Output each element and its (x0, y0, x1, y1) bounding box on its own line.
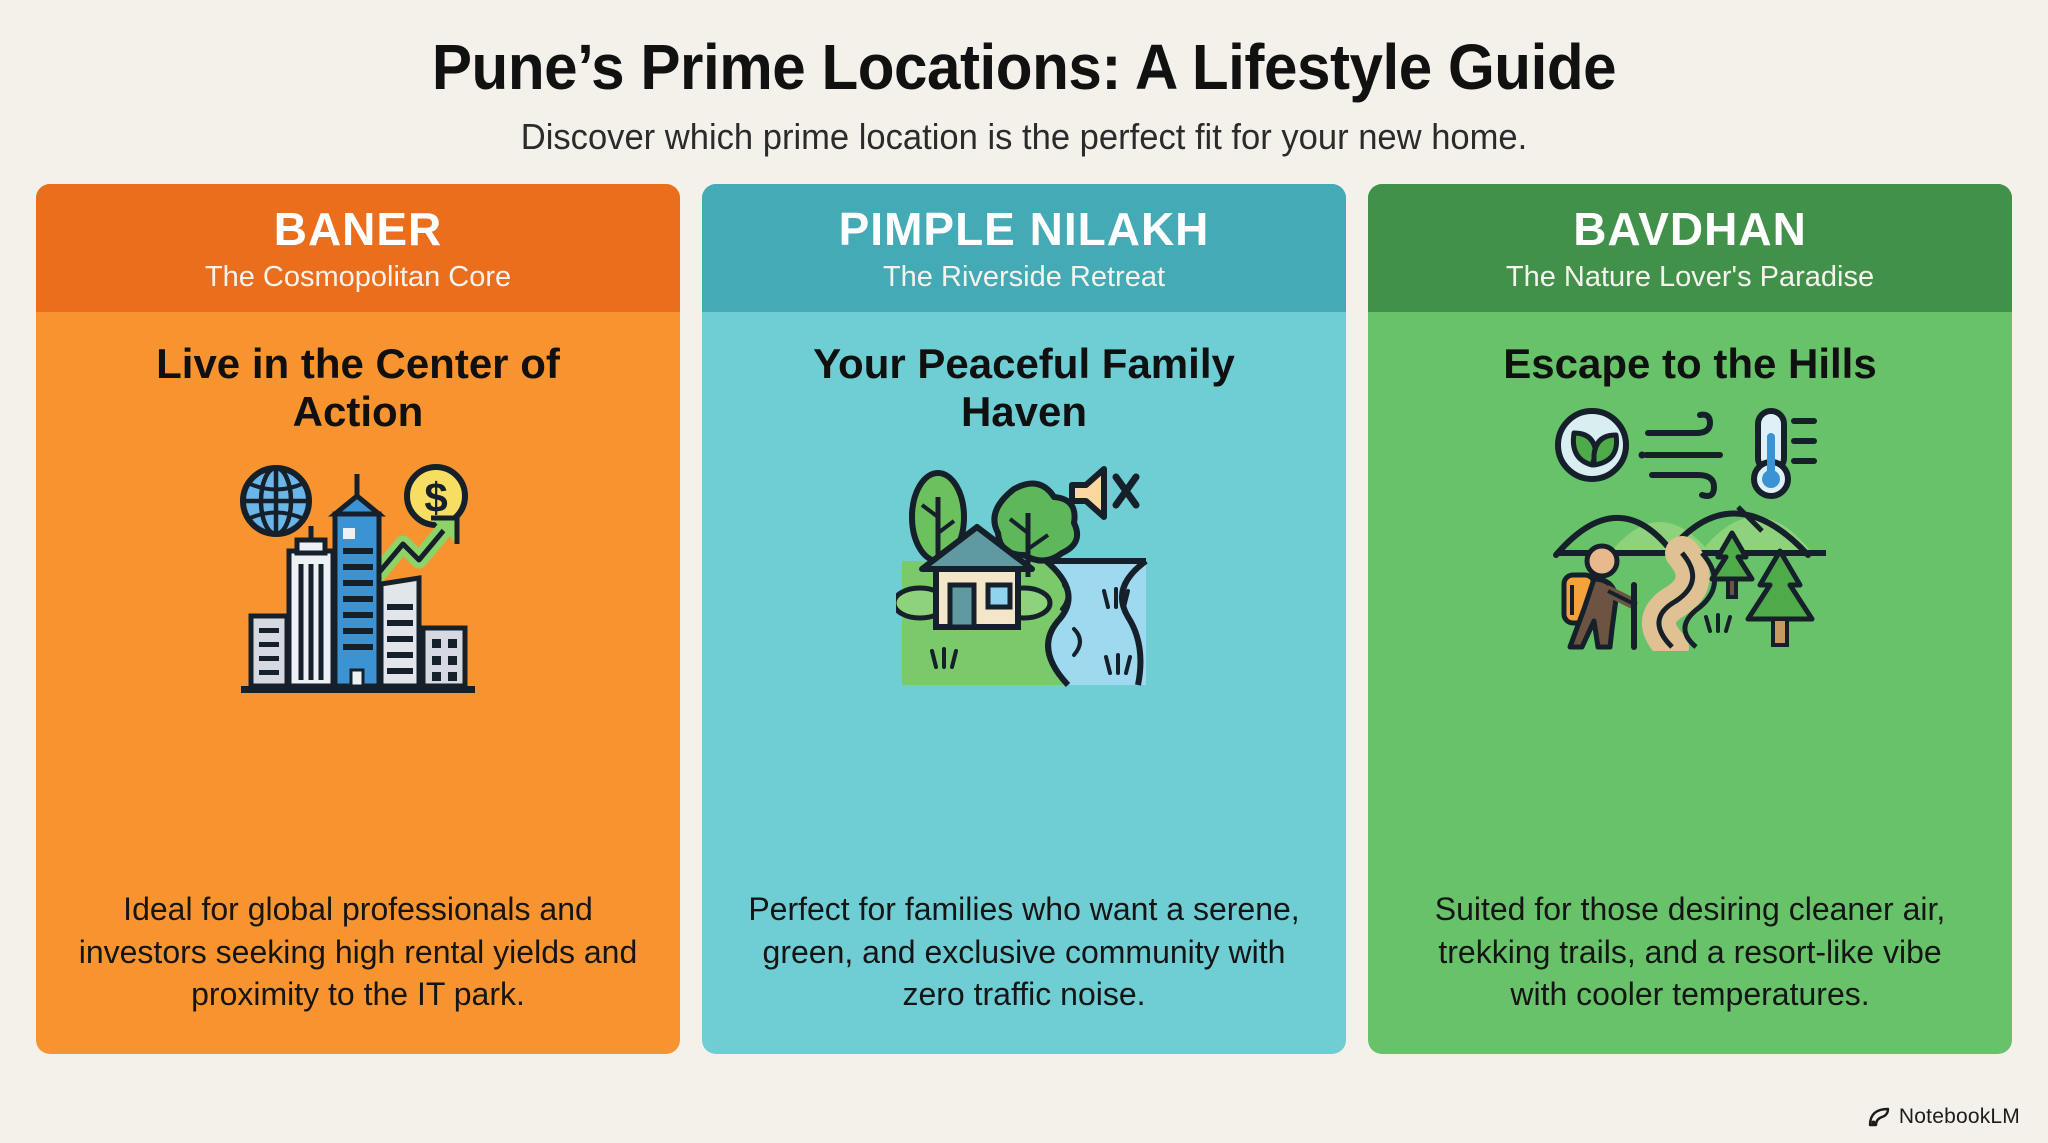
card-header-baner: BANER The Cosmopolitan Core (36, 184, 680, 312)
card-headline-pimple-nilakh: Your Peaceful Family Haven (758, 340, 1291, 437)
notebooklm-watermark: NotebookLM (1868, 1105, 2020, 1129)
card-description-baner: Ideal for global professionals and inves… (74, 888, 642, 1024)
hiker-icon (1564, 546, 1634, 647)
watermark-label: NotebookLM (1899, 1105, 2020, 1129)
eco-leaf-icon (1558, 411, 1626, 479)
card-illustration-baner: $ (233, 451, 483, 701)
card-body-baner: Live in the Center of Action (36, 312, 680, 1054)
notebooklm-logo-icon (1868, 1106, 1892, 1128)
location-card-baner[interactable]: BANER The Cosmopolitan Core Live in the … (36, 184, 680, 1054)
card-description-pimple-nilakh: Perfect for families who want a serene, … (740, 888, 1308, 1024)
page-title: Pune’s Prime Locations: A Lifestyle Guid… (61, 34, 1986, 102)
card-title-bavdhan: BAVDHAN (1386, 206, 1994, 254)
mute-speaker-icon (1072, 469, 1136, 517)
card-header-pimple-nilakh: PIMPLE NILAKH The Riverside Retreat (702, 184, 1346, 312)
location-card-pimple-nilakh[interactable]: PIMPLE NILAKH The Riverside Retreat Your… (702, 184, 1346, 1054)
card-title-baner: BANER (54, 206, 662, 254)
card-header-bavdhan: BAVDHAN The Nature Lover's Paradise (1368, 184, 2012, 312)
thermometer-icon (1754, 411, 1814, 496)
card-headline-baner: Live in the Center of Action (92, 340, 625, 437)
card-illustration-bavdhan (1550, 402, 1830, 652)
grass-tuft (1706, 615, 1730, 631)
card-tagline-bavdhan: The Nature Lover's Paradise (1386, 262, 1994, 294)
card-body-pimple-nilakh: Your Peaceful Family Haven (702, 312, 1346, 1054)
globe-icon (243, 468, 309, 534)
city-skyline-icon: $ (233, 456, 483, 696)
house-river-icon (896, 461, 1152, 691)
card-headline-bavdhan: Escape to the Hills (1503, 340, 1876, 389)
card-illustration-pimple-nilakh (896, 451, 1152, 701)
location-card-bavdhan[interactable]: BAVDHAN The Nature Lover's Paradise Esca… (1368, 184, 2012, 1054)
svg-text:$: $ (424, 474, 447, 521)
location-cards-row: BANER The Cosmopolitan Core Live in the … (0, 184, 2048, 1054)
pine-tree-large-icon (1748, 551, 1812, 645)
wind-icon (1639, 415, 1721, 496)
card-tagline-baner: The Cosmopolitan Core (54, 262, 662, 294)
page-subtitle: Discover which prime location is the per… (41, 116, 2007, 158)
card-description-bavdhan: Suited for those desiring cleaner air, t… (1406, 888, 1974, 1024)
card-title-pimple-nilakh: PIMPLE NILAKH (720, 206, 1328, 254)
growth-arrow-icon (376, 518, 457, 576)
card-tagline-pimple-nilakh: The Riverside Retreat (720, 262, 1328, 294)
page-header: Pune’s Prime Locations: A Lifestyle Guid… (0, 0, 2048, 158)
card-body-bavdhan: Escape to the Hills (1368, 312, 2012, 1054)
mountain-hiker-icon (1550, 403, 1830, 651)
